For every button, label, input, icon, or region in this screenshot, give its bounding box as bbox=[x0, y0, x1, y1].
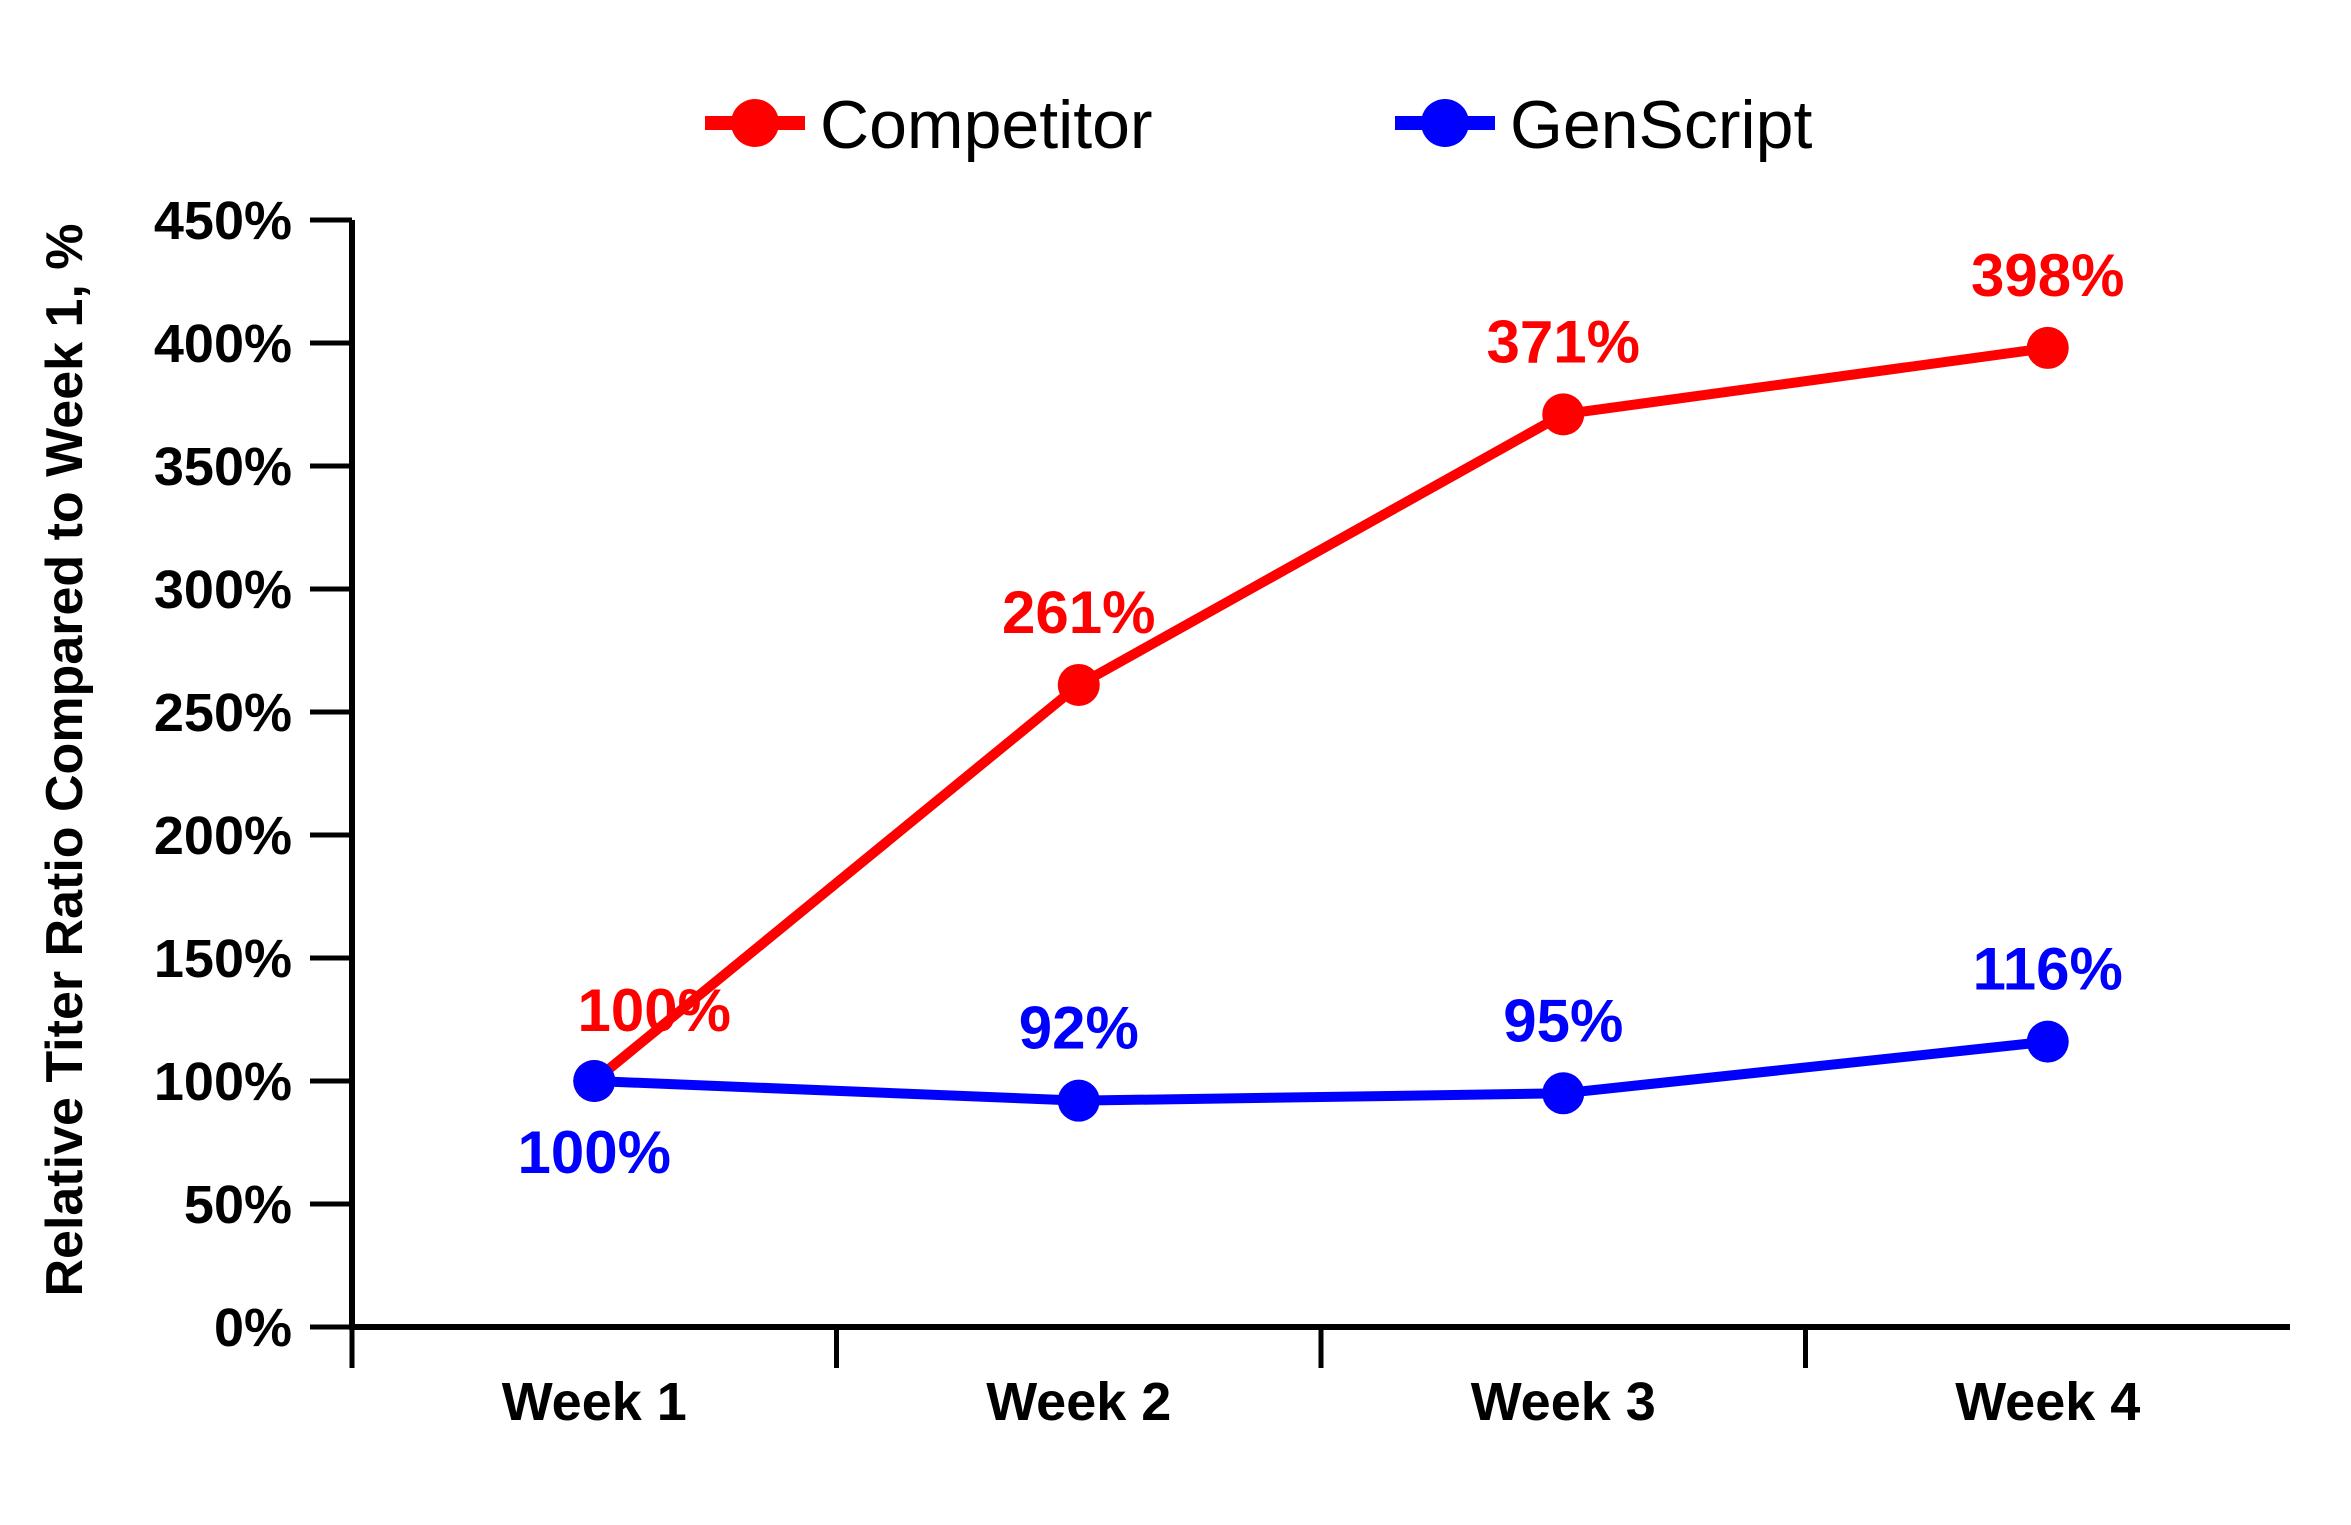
x-category-label-2: Week 2 bbox=[986, 1372, 1171, 1432]
y-tick-label-200: 200% bbox=[154, 806, 292, 866]
data-point-competitor-4[interactable] bbox=[2027, 327, 2069, 369]
data-label-genscript-3: 95% bbox=[1503, 987, 1623, 1054]
data-point-genscript-4[interactable] bbox=[2027, 1021, 2069, 1063]
y-tick-label-50: 50% bbox=[184, 1175, 292, 1235]
legend-label-genscript: GenScript bbox=[1510, 87, 1812, 163]
x-category-label-1: Week 1 bbox=[502, 1372, 687, 1432]
y-axis-title: Relative Titer Ratio Compared to Week 1,… bbox=[36, 223, 94, 1296]
data-point-genscript-2[interactable] bbox=[1058, 1080, 1100, 1122]
y-tick-label-150: 150% bbox=[154, 929, 292, 989]
data-label-competitor-1: 100% bbox=[578, 977, 731, 1044]
data-point-genscript-1[interactable] bbox=[573, 1060, 615, 1102]
data-point-competitor-2[interactable] bbox=[1058, 664, 1100, 706]
line-chart: Competitor GenScript Relative Titer Rati… bbox=[0, 0, 2351, 1525]
x-category-label-3: Week 3 bbox=[1471, 1372, 1656, 1432]
y-tick-label-100: 100% bbox=[154, 1052, 292, 1112]
data-label-genscript-2: 92% bbox=[1019, 995, 1139, 1062]
legend-marker-competitor bbox=[731, 99, 779, 147]
legend-marker-genscript bbox=[1421, 99, 1469, 147]
x-category-label-4: Week 4 bbox=[1955, 1372, 2140, 1432]
data-label-competitor-2: 261% bbox=[1002, 579, 1155, 646]
chart-container: Competitor GenScript Relative Titer Rati… bbox=[0, 0, 2351, 1525]
y-tick-label-450: 450% bbox=[154, 191, 292, 251]
data-label-competitor-3: 371% bbox=[1487, 308, 1640, 375]
data-point-competitor-3[interactable] bbox=[1542, 393, 1584, 435]
legend-label-competitor: Competitor bbox=[820, 87, 1153, 163]
y-tick-label-250: 250% bbox=[154, 683, 292, 743]
data-point-genscript-3[interactable] bbox=[1542, 1072, 1584, 1114]
data-label-genscript-1: 100% bbox=[518, 1119, 671, 1186]
y-tick-label-300: 300% bbox=[154, 560, 292, 620]
y-tick-label-400: 400% bbox=[154, 314, 292, 374]
data-label-competitor-4: 398% bbox=[1971, 242, 2124, 309]
y-tick-label-0: 0% bbox=[214, 1298, 292, 1358]
data-label-genscript-4: 116% bbox=[1973, 936, 2123, 1003]
y-tick-label-350: 350% bbox=[154, 437, 292, 497]
